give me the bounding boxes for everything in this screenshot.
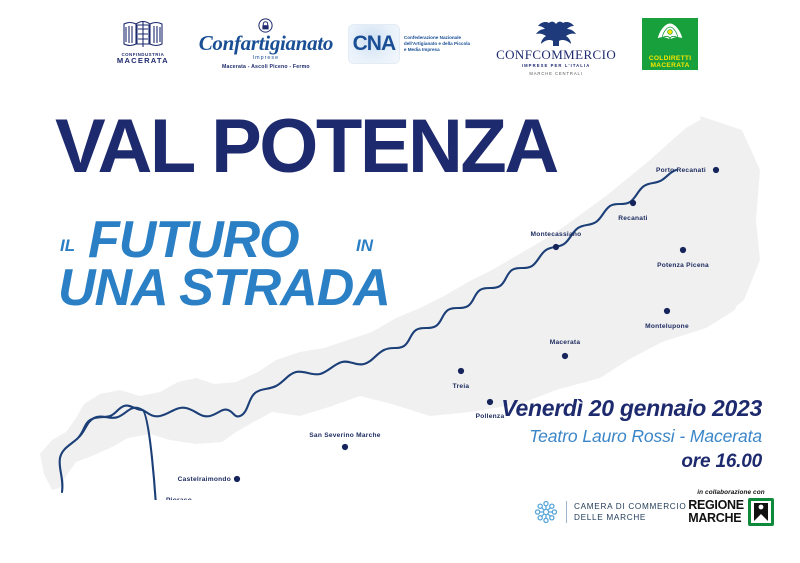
sponsor-logo-cna: CNA Confederazione Nazionale dell'Artigi… [348,18,470,64]
city-label: Pollenza [476,413,505,420]
subtitle-block: IL FUTURO IN UNA STRADA [56,210,388,318]
regione-marche-words: REGIONE MARCHE [688,499,744,525]
cna-acronym: CNA [353,32,396,56]
sponsor-logo-confindustria-macerata: CONFINDUSTRIA MACERATA [102,18,184,65]
divider [566,501,567,523]
event-details: Venerdì 20 gennaio 2023 Teatro Lauro Ros… [501,396,762,473]
cna-line3: e Media Impresa [404,47,470,53]
event-time: ore 16.00 [501,451,762,473]
city-label: San Severino Marche [309,432,381,439]
footer-logo-regione-marche: in collaborazione con REGIONE MARCHE [676,489,786,526]
city-dot [562,353,568,359]
city-dot [680,247,686,253]
regione-marche-row: REGIONE MARCHE [676,498,786,526]
subtitle-line-1: IL FUTURO IN [56,210,388,262]
subtitle-word-il: IL [60,236,75,256]
city-dot [234,476,240,482]
snowflake-network-icon [533,499,559,525]
city-label: Castelraimondo [178,476,231,483]
confartigianato-line1: Confartigianato [199,33,333,54]
city-label: Montelupone [645,323,689,330]
event-date: Venerdì 20 gennaio 2023 [501,396,762,420]
poster-root: CONFINDUSTRIA MACERATA Confartigianato I… [0,0,800,563]
city-dot [487,399,493,405]
city-dot [458,368,464,374]
page-title: VAL POTENZA [55,112,557,182]
camera-commercio-text: CAMERA DI COMMERCIO DELLE MARCHE [574,501,686,524]
subtitle-line-2: UNA STRADA [58,258,390,318]
regione-marche-flag-icon [748,498,774,526]
regione-line2: MARCHE [688,512,744,525]
city-dot [553,244,559,250]
eagle-crest-icon [120,18,166,50]
eagle-icon [534,18,578,48]
city-label: Treia [453,383,470,390]
camera-commercio-line1: CAMERA DI COMMERCIO [574,501,686,512]
camera-commercio-line2: DELLE MARCHE [574,512,686,523]
footer-logo-camera-commercio: CAMERA DI COMMERCIO DELLE MARCHE [533,499,686,525]
city-label: Porto Recanati [656,167,706,174]
city-label: Montecassiano [531,231,582,238]
city-dot [713,167,719,173]
footer-logos: CAMERA DI COMMERCIO DELLE MARCHE in coll… [0,493,800,545]
city-dot [342,444,348,450]
cna-text-block: Confederazione Nazionale dell'Artigianat… [404,35,470,52]
city-dot [630,200,636,206]
subtitle-word-in: IN [356,236,373,256]
city-label: Recanati [618,215,648,222]
event-venue: Teatro Lauro Rossi - Macerata [501,426,762,447]
city-dot [664,308,670,314]
collaboration-label: in collaborazione con [676,489,786,496]
city-label: Potenza Picena [657,262,709,269]
city-label: Macerata [550,339,581,346]
cna-globe-icon: CNA [348,24,400,64]
